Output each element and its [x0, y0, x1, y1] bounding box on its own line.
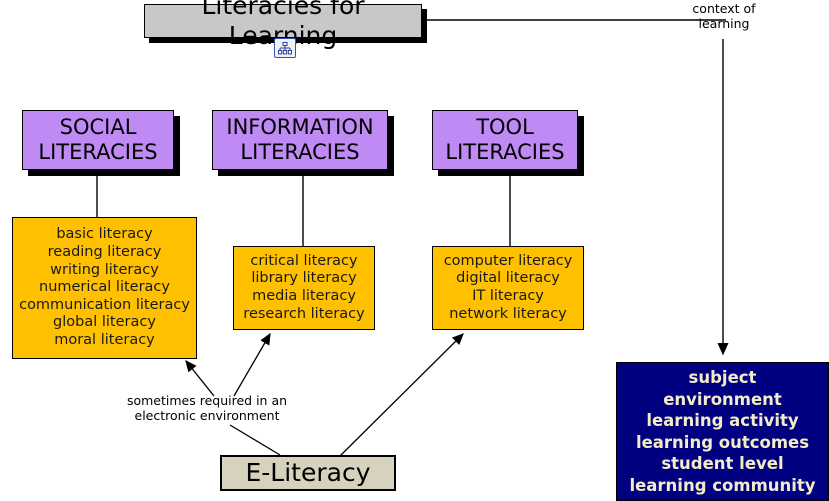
node-e-literacy[interactable]: E-Literacy: [220, 455, 396, 491]
information-literacies-label: INFORMATION LITERACIES: [226, 115, 373, 165]
context-of-learning-items-text: subject environment learning activity le…: [629, 367, 815, 496]
edge-eliteracy-to-annot: [230, 425, 280, 455]
node-tool-literacies-list[interactable]: computer literacy digital literacy IT li…: [432, 246, 584, 330]
diagram-canvas: Literacies for Learning SOCIAL LITERACIE…: [0, 0, 829, 501]
tool-literacies-label: TOOL LITERACIES: [445, 115, 564, 165]
tool-literacies-list-text: computer literacy digital literacy IT li…: [444, 253, 573, 323]
annotation-sometimes-required: sometimes required in an electronic envi…: [112, 393, 302, 423]
edge-eliteracy-to-tool: [340, 334, 463, 456]
hierarchy-icon-glyph: [278, 42, 292, 55]
information-literacies-list-text: critical literacy library literacy media…: [243, 253, 364, 323]
annotation-context-of-learning: context of learning: [668, 1, 780, 31]
node-tool-literacies[interactable]: TOOL LITERACIES: [432, 110, 578, 170]
node-information-literacies-list[interactable]: critical literacy library literacy media…: [233, 246, 375, 330]
edge-annot-to-information: [234, 334, 270, 396]
node-social-literacies[interactable]: SOCIAL LITERACIES: [22, 110, 174, 170]
node-social-literacies-list[interactable]: basic literacy reading literacy writing …: [12, 217, 197, 359]
node-literacies-for-learning[interactable]: Literacies for Learning: [144, 4, 422, 38]
node-context-of-learning-items[interactable]: subject environment learning activity le…: [616, 362, 829, 501]
social-literacies-label: SOCIAL LITERACIES: [38, 115, 157, 165]
hierarchy-icon[interactable]: [274, 38, 296, 58]
social-literacies-list-text: basic literacy reading literacy writing …: [19, 226, 190, 349]
e-literacy-label: E-Literacy: [245, 458, 370, 488]
node-information-literacies[interactable]: INFORMATION LITERACIES: [212, 110, 388, 170]
edge-annot-to-social: [186, 361, 214, 396]
